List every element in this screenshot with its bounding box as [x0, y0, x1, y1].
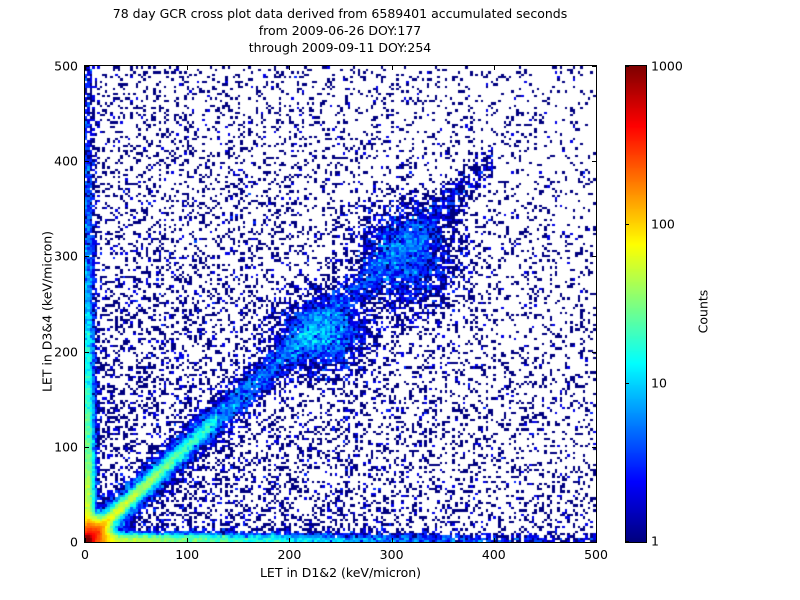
y-axis-tick-right — [592, 447, 596, 448]
y-axis-label: LET in D3&4 (keV/micron) — [40, 202, 55, 422]
y-axis-tick-right — [592, 256, 596, 257]
x-axis-tick-top — [289, 66, 290, 70]
title-line-2: from 2009-06-26 DOY:177 — [0, 22, 680, 39]
plot-axes — [84, 65, 597, 543]
y-tick-label: 500 — [32, 59, 78, 74]
x-axis-tick-top — [494, 66, 495, 70]
x-axis-tick-top — [187, 66, 188, 70]
y-tick-label: 0 — [32, 535, 78, 550]
colorbar-tick-label: 10 — [651, 376, 667, 391]
x-tick-label: 100 — [175, 547, 199, 562]
colorbar-tick-label: 1000 — [651, 59, 683, 74]
colorbar — [625, 65, 647, 543]
chart-title: 78 day GCR cross plot data derived from … — [0, 5, 680, 56]
colorbar-gradient — [626, 66, 646, 542]
x-axis-tick — [187, 538, 188, 542]
colorbar-tick-label: 100 — [651, 217, 675, 232]
x-axis-tick — [392, 538, 393, 542]
x-axis-label: LET in D1&2 (keV/micron) — [84, 565, 597, 580]
colorbar-tick — [626, 66, 629, 67]
y-axis-tick-right — [592, 542, 596, 543]
y-axis-tick — [85, 352, 89, 353]
y-axis-tick — [85, 256, 89, 257]
figure-canvas: 78 day GCR cross plot data derived from … — [0, 0, 800, 600]
x-tick-label: 300 — [380, 547, 404, 562]
y-axis-tick — [85, 66, 89, 67]
x-tick-label: 500 — [584, 547, 608, 562]
density-scatter-plot — [85, 66, 596, 542]
y-axis-tick — [85, 161, 89, 162]
y-axis-tick — [85, 542, 89, 543]
x-axis-tick — [596, 538, 597, 542]
title-line-3: through 2009-09-11 DOY:254 — [0, 39, 680, 56]
y-axis-tick-right — [592, 161, 596, 162]
colorbar-tick — [626, 224, 629, 225]
x-axis-tick-top — [392, 66, 393, 70]
y-tick-label: 400 — [32, 154, 78, 169]
x-tick-label: 400 — [482, 547, 506, 562]
y-axis-tick-right — [592, 352, 596, 353]
x-tick-label: 200 — [277, 547, 301, 562]
y-tick-label: 100 — [32, 439, 78, 454]
y-axis-tick-right — [592, 66, 596, 67]
x-axis-tick — [289, 538, 290, 542]
colorbar-tick — [626, 541, 629, 542]
colorbar-tick-label: 1 — [651, 534, 659, 549]
x-axis-tick-top — [596, 66, 597, 70]
x-tick-label: 0 — [81, 547, 89, 562]
y-axis-tick — [85, 447, 89, 448]
colorbar-tick — [626, 383, 629, 384]
x-axis-tick — [494, 538, 495, 542]
title-line-1: 78 day GCR cross plot data derived from … — [0, 5, 680, 22]
colorbar-label: Counts — [696, 252, 711, 372]
